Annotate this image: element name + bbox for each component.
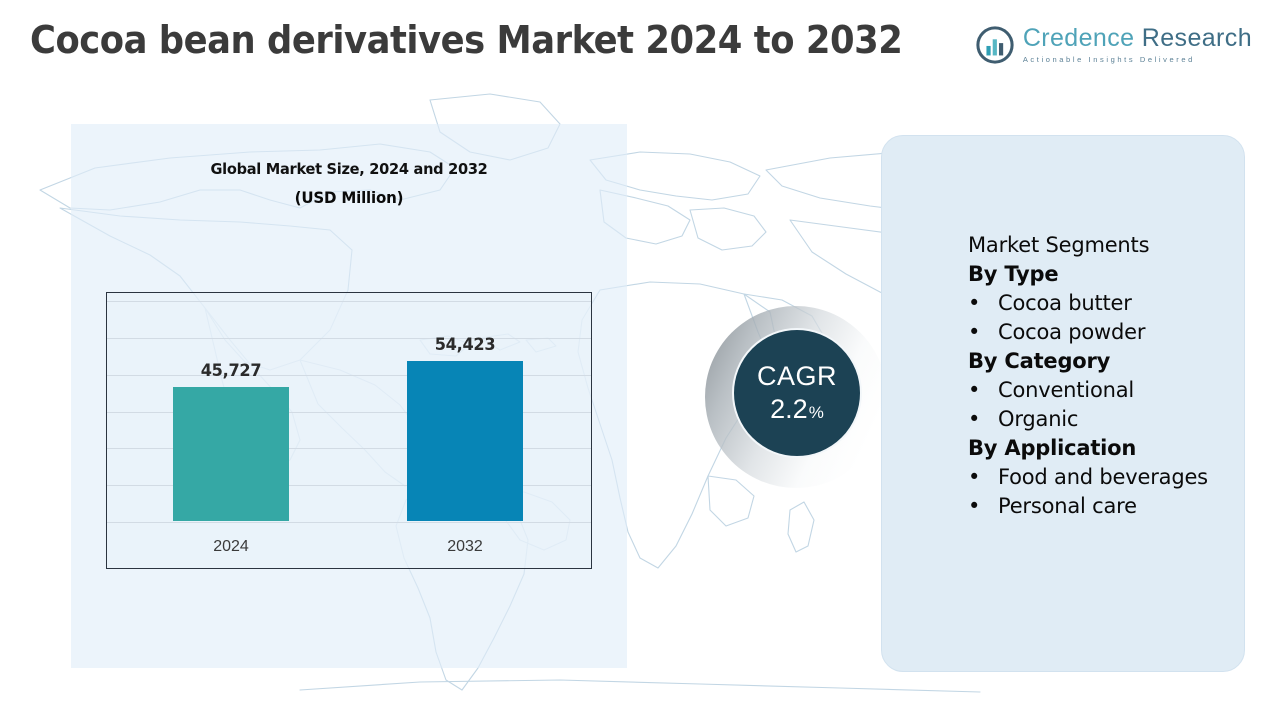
bullet-icon: • <box>968 463 998 492</box>
brand-logo: Credence Research Actionable Insights De… <box>976 26 1252 64</box>
segment-item-label: Organic <box>998 407 1078 431</box>
segments-list: Market Segments By Type•Cocoa butter•Coc… <box>968 231 1268 521</box>
segment-item: •Conventional <box>968 376 1268 405</box>
chart-title: Global Market Size, 2024 and 2032 (USD M… <box>71 160 627 207</box>
segment-item: •Cocoa butter <box>968 289 1268 318</box>
segment-item-label: Personal care <box>998 494 1137 518</box>
bullet-icon: • <box>968 405 998 434</box>
bullet-icon: • <box>968 318 998 347</box>
logo-name-secondary: Research <box>1142 24 1252 52</box>
segment-heading-2: By Application <box>968 434 1268 463</box>
bullet-icon: • <box>968 289 998 318</box>
cagr-circle: CAGR 2.2 % <box>732 328 862 458</box>
bar-chart: 45,727202454,4232032 <box>106 292 592 569</box>
chart-title-line2: (USD Million) <box>88 188 611 207</box>
logo-tagline: Actionable Insights Delivered <box>1023 56 1252 64</box>
cagr-badge: CAGR 2.2 % <box>705 306 887 488</box>
cagr-label: CAGR <box>757 363 837 390</box>
page-title: Cocoa bean derivatives Market 2024 to 20… <box>30 18 902 62</box>
bar-value-2024: 45,727 <box>201 361 262 381</box>
logo-name-primary: Credence <box>1023 24 1135 52</box>
cagr-percent-symbol: % <box>809 404 824 421</box>
bar-value-2032: 54,423 <box>435 335 496 355</box>
segment-heading-0: By Type <box>968 260 1268 289</box>
bullet-icon: • <box>968 376 998 405</box>
x-axis-label-2024: 2024 <box>213 538 249 556</box>
segment-item-label: Food and beverages <box>998 465 1208 489</box>
bar-group: 54,423 <box>407 361 523 521</box>
segment-heading-1: By Category <box>968 347 1268 376</box>
segments-groups: By Type•Cocoa butter•Cocoa powderBy Cate… <box>968 260 1268 521</box>
segments-title: Market Segments <box>968 231 1268 260</box>
segment-item: •Cocoa powder <box>968 318 1268 347</box>
bullet-icon: • <box>968 492 998 521</box>
x-axis-label-2032: 2032 <box>447 538 483 556</box>
infographic-canvas: Cocoa bean derivatives Market 2024 to 20… <box>0 0 1280 720</box>
segment-item-label: Conventional <box>998 378 1134 402</box>
segment-item: •Organic <box>968 405 1268 434</box>
segment-item-label: Cocoa powder <box>998 320 1145 344</box>
cagr-value-wrap: 2.2 % <box>770 396 824 423</box>
segment-item-label: Cocoa butter <box>998 291 1132 315</box>
bar-group: 45,727 <box>173 387 289 521</box>
cagr-value: 2.2 <box>770 396 808 423</box>
chart-plot-area: 45,727202454,4232032 <box>107 293 591 568</box>
bar-2032[interactable] <box>407 361 523 521</box>
segment-item: •Food and beverages <box>968 463 1268 492</box>
chart-title-line1: Global Market Size, 2024 and 2032 <box>88 160 611 178</box>
bar-chart-circle-icon <box>976 26 1014 64</box>
segment-item: •Personal care <box>968 492 1268 521</box>
bar-2024[interactable] <box>173 387 289 521</box>
